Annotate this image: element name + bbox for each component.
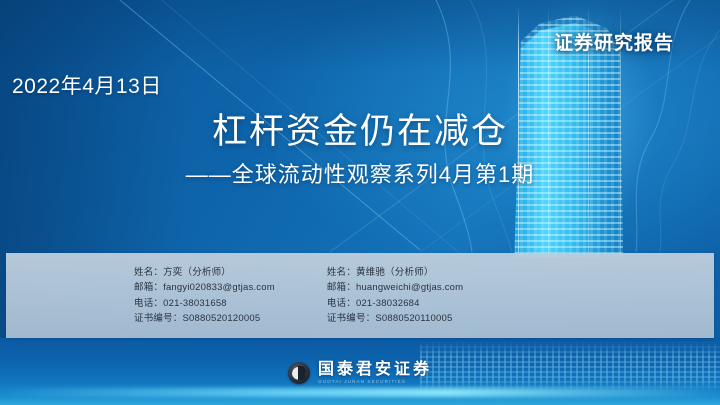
page-title: 杠杆资金仍在减仓 (0, 103, 720, 154)
analyst-1-name: 姓名：方奕（分析师） (134, 265, 275, 281)
analyst-2-email: 邮箱：huangweichi@gtjas.com (327, 280, 463, 296)
analyst-contact-strip: 姓名：方奕（分析师） 邮箱：fangyi020833@gtjas.com 电话：… (6, 253, 714, 338)
report-type-badge: 证券研究报告 (554, 28, 674, 55)
horizon-glow (0, 388, 720, 397)
report-cover-slide: 证券研究报告 2022年4月13日 杠杆资金仍在减仓 ——全球流动性观察系列4月… (0, 0, 720, 405)
analyst-2-name: 姓名：黄维驰（分析师） (327, 265, 463, 281)
analyst-1-license: 证书编号：S0880520120005 (134, 311, 275, 327)
publication-date: 2022年4月13日 (12, 70, 162, 100)
page-subtitle: ——全球流动性观察系列4月第1期 (0, 157, 720, 189)
analyst-2-license: 证书编号：S0880520110005 (327, 311, 463, 327)
cityscape-silhouette (420, 341, 720, 391)
brand-name-cn: 国泰君安证券 (318, 362, 432, 378)
analyst-block-1: 姓名：方奕（分析师） 邮箱：fangyi020833@gtjas.com 电话：… (134, 265, 275, 327)
analyst-block-2: 姓名：黄维驰（分析师） 邮箱：huangweichi@gtjas.com 电话：… (327, 265, 463, 327)
analyst-1-email: 邮箱：fangyi020833@gtjas.com (134, 280, 275, 296)
brand-logo: 国泰君安证券 GUOTAI JUNAN SECURITIES (288, 362, 432, 385)
brand-name-en: GUOTAI JUNAN SECURITIES (318, 380, 432, 385)
guotai-junan-emblem-icon (288, 362, 310, 384)
analyst-2-phone: 电话：021-38032684 (327, 296, 463, 312)
analyst-1-phone: 电话：021-38031658 (134, 296, 275, 312)
